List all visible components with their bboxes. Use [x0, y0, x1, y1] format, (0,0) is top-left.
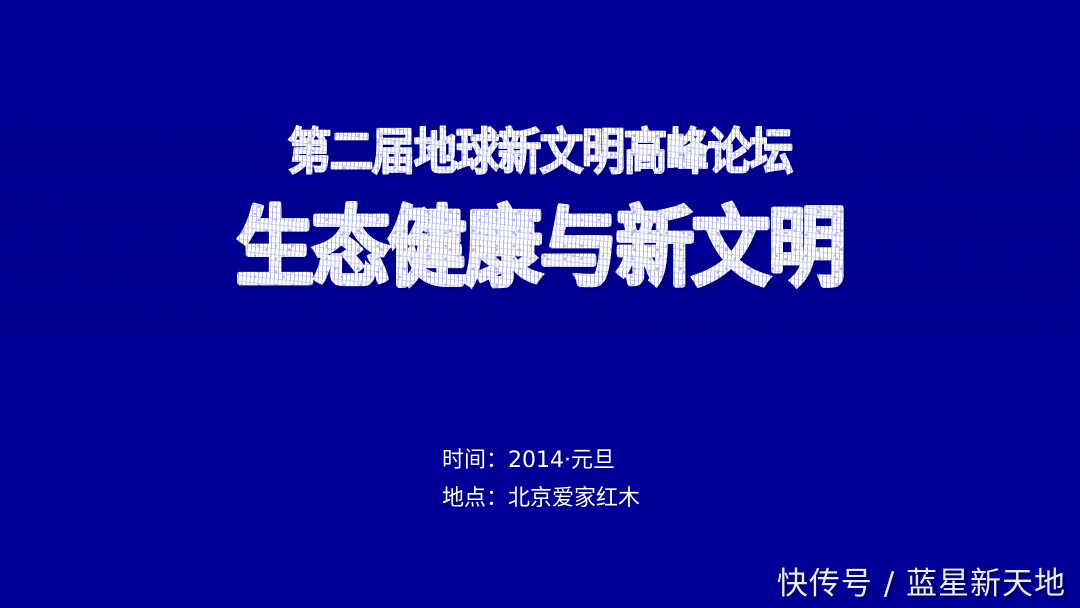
event-title: 生态健康与新文明 [0, 198, 1080, 299]
event-details: 时间：2014·元旦 地点：北京爱家红木 [442, 442, 640, 518]
event-date-line: 时间：2014·元旦 [442, 442, 640, 480]
headline-block: 第二届地球新文明高峰论坛 生态健康与新文明 [0, 124, 1080, 290]
event-location-line: 地点：北京爱家红木 [442, 480, 640, 518]
presentation-slide: 第二届地球新文明高峰论坛 生态健康与新文明 时间：2014·元旦 地点：北京爱家… [0, 0, 1080, 608]
event-subtitle: 第二届地球新文明高峰论坛 [0, 124, 1080, 181]
watermark-label: 快传号 / 蓝星新天地 [777, 564, 1066, 604]
